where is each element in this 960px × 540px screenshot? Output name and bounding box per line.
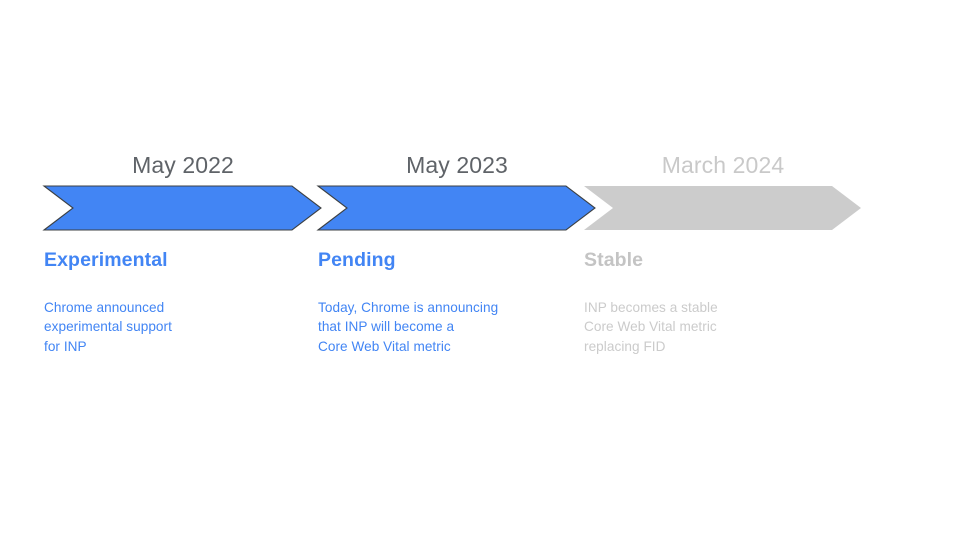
chevron-arrow-experimental [44, 186, 322, 230]
chevron-arrow-stable [584, 186, 862, 230]
stage-description: Chrome announced experimental support fo… [44, 298, 322, 356]
chevron-shape-icon [318, 186, 596, 230]
chevron-shape-icon [584, 186, 862, 230]
timeline-diagram: May 2022 Experimental Chrome announced e… [0, 0, 960, 540]
stage-description: INP becomes a stable Core Web Vital metr… [584, 298, 862, 356]
chevron-shape-icon [44, 186, 322, 230]
stage-status-heading: Pending [318, 248, 596, 272]
timeline-stage-experimental: May 2022 Experimental Chrome announced e… [44, 150, 322, 356]
timeline-stage-stable: March 2024 Stable INP becomes a stable C… [584, 150, 862, 356]
chevron-arrow-pending [318, 186, 596, 230]
stage-description: Today, Chrome is announcing that INP wil… [318, 298, 596, 356]
stage-date-label: May 2022 [44, 150, 322, 184]
stage-date-label: March 2024 [584, 150, 862, 184]
stage-date-label: May 2023 [318, 150, 596, 184]
stage-status-heading: Stable [584, 248, 862, 272]
timeline-stage-pending: May 2023 Pending Today, Chrome is announ… [318, 150, 596, 356]
stage-status-heading: Experimental [44, 248, 322, 272]
